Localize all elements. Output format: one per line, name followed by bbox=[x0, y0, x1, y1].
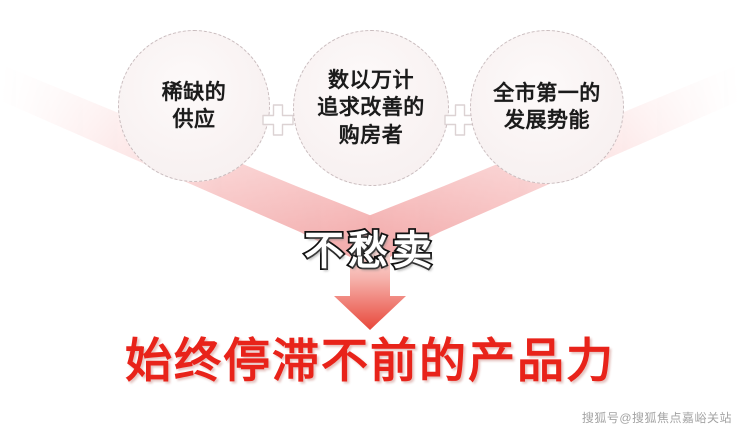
watermark-text: 搜狐号@搜狐焦点嘉峪关站 bbox=[582, 409, 732, 426]
plus-icon bbox=[261, 103, 295, 137]
factor-circle-buyers-label: 数以万计 追求改善的 购房者 bbox=[317, 67, 425, 149]
factor-circle-supply-label: 稀缺的 供应 bbox=[162, 79, 227, 134]
bottom-headline: 始终停滞不前的产品力 bbox=[0, 322, 740, 391]
slide-canvas: 稀缺的 供应 数以万计 追求改善的 购房者 全市第一的 发展势能 不愁卖 始终停… bbox=[0, 0, 740, 432]
factor-circle-supply[interactable]: 稀缺的 供应 bbox=[118, 30, 270, 182]
factor-circle-buyers[interactable]: 数以万计 追求改善的 购房者 bbox=[293, 30, 449, 186]
factor-circle-momentum[interactable]: 全市第一的 发展势能 bbox=[470, 30, 624, 184]
middle-headline: 不愁卖 bbox=[0, 218, 740, 276]
factor-circle-momentum-label: 全市第一的 发展势能 bbox=[493, 80, 601, 135]
